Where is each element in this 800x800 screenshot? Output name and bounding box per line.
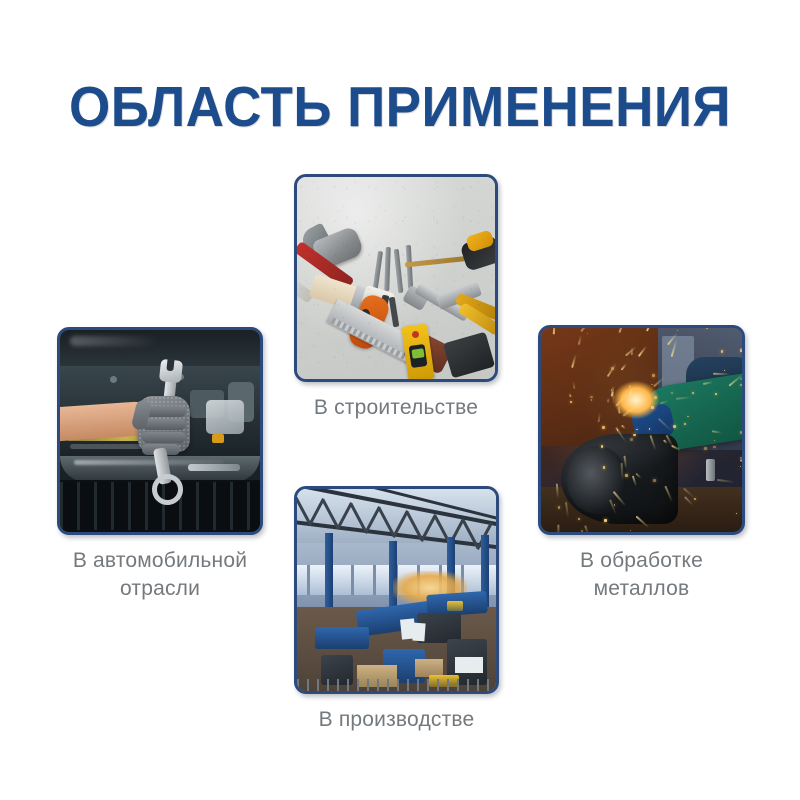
yellow-machine-shape [447, 601, 463, 611]
screwdriver-handle-shape [460, 234, 495, 272]
car-badge-shape [188, 464, 240, 471]
spirit-level-shape [401, 323, 435, 379]
amber-cap-shape [212, 434, 224, 443]
hammer-handle-end-shape [297, 270, 315, 303]
spark-shape [590, 396, 592, 398]
spark-shape [652, 374, 655, 377]
construction-tools-image [297, 177, 495, 379]
spark-shape [587, 333, 588, 334]
crate-shape [455, 657, 483, 673]
engine-bolt-shape [110, 376, 117, 383]
window-mullion-shape [307, 565, 310, 595]
hood-highlight-shape [70, 336, 160, 346]
tool-detail-shape [367, 325, 376, 336]
spark-shape [604, 519, 607, 522]
card-metalwork[interactable]: В обработке металлов [538, 325, 745, 603]
spirit-level-bubble-shape [411, 348, 424, 359]
card-automotive[interactable]: В автомобильной отрасли [57, 327, 263, 603]
factory-interior-image [297, 489, 496, 691]
page-title: ОБЛАСТЬ ПРИМЕНЕНИЯ [28, 76, 772, 138]
nail-shape [406, 245, 413, 289]
saw-blade-shape [326, 299, 423, 366]
screwdriver-shaft-shape [405, 256, 471, 268]
metal-pipe-bore-shape [567, 446, 627, 513]
spark-shape [570, 401, 572, 403]
wrench-body-shape [414, 283, 470, 322]
spark-shape [654, 396, 657, 399]
spirit-level-window-shape [409, 344, 428, 368]
floor-railing-shape [297, 679, 496, 691]
spark-shape [717, 478, 735, 482]
spark-shape [692, 392, 694, 394]
spark-shape [715, 393, 717, 395]
metalwork-grinding-image [541, 328, 742, 532]
crate-shape [412, 623, 425, 642]
spark-shape [591, 399, 593, 401]
spark-shape [649, 428, 651, 430]
card-manufacturing-image-frame [294, 486, 499, 694]
window-mullion-shape [351, 565, 354, 595]
paintbrush-handle-shape [361, 285, 396, 313]
glove-finger-shape [142, 419, 186, 430]
wrench-head-shape [402, 285, 430, 312]
spark-shape [614, 504, 615, 505]
spark-shape [557, 525, 559, 532]
automotive-engine-image [60, 330, 260, 532]
card-manufacturing-label: В производстве [294, 706, 499, 734]
allen-key-shape [389, 297, 400, 328]
card-construction[interactable]: В строительстве [294, 174, 498, 422]
spark-shape [603, 466, 606, 469]
spark-shape [740, 431, 742, 433]
spark-shape [602, 426, 605, 429]
spirit-level-marker-shape [412, 331, 419, 338]
pliers-handle-shape [454, 292, 495, 321]
nail-shape [384, 247, 391, 291]
spark-shape [617, 429, 618, 430]
hammer-claw-shape [298, 222, 333, 257]
spark-shape [740, 466, 741, 467]
spark-shape [673, 425, 676, 428]
orange-handle-tool-shape [346, 292, 392, 353]
nail-shape [394, 249, 404, 293]
card-automotive-label: В автомобильной отрасли [57, 547, 263, 603]
card-metalwork-image-frame [538, 325, 745, 535]
paintbrush-ferrule-shape [350, 285, 372, 312]
spark-shape [581, 530, 583, 532]
card-manufacturing[interactable]: В производстве [294, 486, 499, 734]
spark-shape [611, 367, 614, 370]
allen-key-shape [376, 295, 390, 330]
screwdriver-grip-shape [465, 229, 495, 252]
card-metalwork-label: В обработке металлов [538, 547, 745, 603]
production-line-shape [315, 627, 369, 649]
application-area-infographic: ОБЛАСТЬ ПРИМЕНЕНИЯ [0, 0, 800, 800]
spark-shape [625, 474, 628, 477]
pliers-handle-shape [457, 302, 495, 337]
spark-shape [684, 423, 686, 425]
window-mullion-shape [373, 565, 376, 595]
paintbrush-bristles-shape [309, 274, 366, 313]
hammer-head-shape [311, 225, 365, 270]
card-construction-image-frame [294, 174, 498, 382]
hammer-handle-shape [297, 241, 355, 290]
glove-finger-shape [142, 432, 186, 443]
coolant-reservoir-shape [206, 400, 244, 434]
spark-shape [629, 385, 631, 387]
card-automotive-image-frame [57, 327, 263, 535]
wrench-jaw-slot-shape [166, 358, 174, 372]
spark-shape [721, 350, 724, 353]
pliers-jaw-shape [436, 282, 482, 310]
sanding-block-shape [443, 332, 495, 379]
saw-teeth-shape [331, 318, 419, 367]
spark-shape [740, 458, 742, 461]
spark-shape [694, 498, 696, 500]
spark-shape [713, 446, 715, 448]
saw-handle-shape [402, 329, 453, 375]
bench-bolt-shape [706, 459, 715, 481]
spark-shape [601, 445, 604, 448]
card-construction-label: В строительстве [294, 394, 498, 422]
spark-shape [713, 373, 730, 376]
nail-shape [372, 251, 383, 295]
tool-detail-shape [361, 309, 370, 320]
